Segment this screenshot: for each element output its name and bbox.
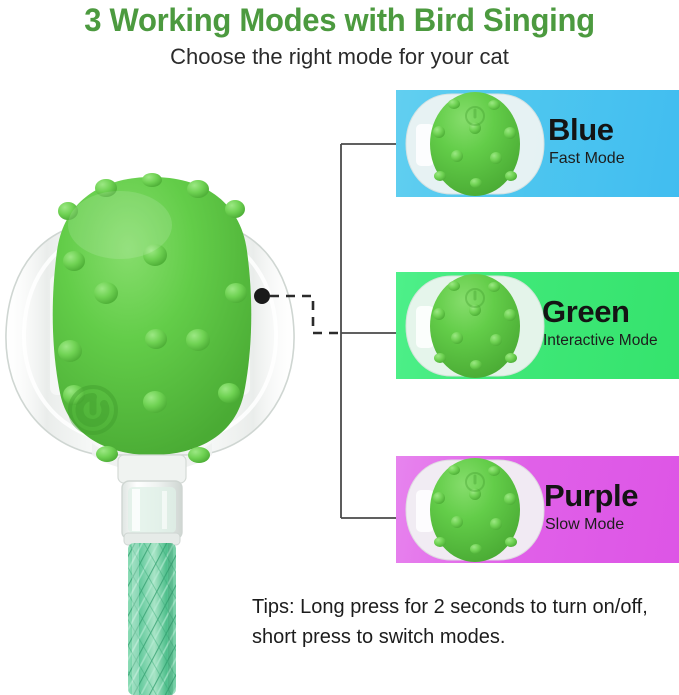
mode-thumbnail-purple [398, 456, 550, 563]
mode-description-purple: Slow Mode [545, 516, 624, 534]
tips-line-1: Tips: Long press for 2 seconds to turn o… [252, 592, 672, 622]
mode-description-blue: Fast Mode [549, 150, 625, 168]
mode-card-purple[interactable]: Purple Slow Mode [396, 456, 679, 563]
callout-bracket [240, 80, 410, 550]
mode-label-green: Green [542, 294, 630, 330]
mode-label-blue: Blue [548, 112, 614, 148]
mode-description-green: Interactive Mode [543, 332, 658, 350]
infographic-canvas: 3 Working Modes with Bird Singing Choose… [0, 0, 679, 694]
green-ball [53, 173, 252, 470]
mode-card-blue[interactable]: Blue Fast Mode [396, 90, 679, 197]
mode-label-purple: Purple [544, 478, 638, 514]
mode-thumbnail-blue [398, 90, 550, 197]
callout-dashed-line [270, 296, 341, 333]
callout-anchor-dot [254, 288, 270, 304]
mode-thumbnail-green [398, 272, 550, 379]
braided-wand [128, 543, 176, 695]
page-subtitle: Choose the right mode for your cat [0, 44, 679, 70]
tips-line-2: short press to switch modes. [252, 622, 672, 652]
tips-block: Tips: Long press for 2 seconds to turn o… [252, 592, 672, 652]
wand-connector [118, 455, 186, 545]
mode-card-green[interactable]: Green Interactive Mode [396, 272, 679, 379]
page-title: 3 Working Modes with Bird Singing [10, 2, 669, 39]
power-button-logo [70, 387, 116, 433]
